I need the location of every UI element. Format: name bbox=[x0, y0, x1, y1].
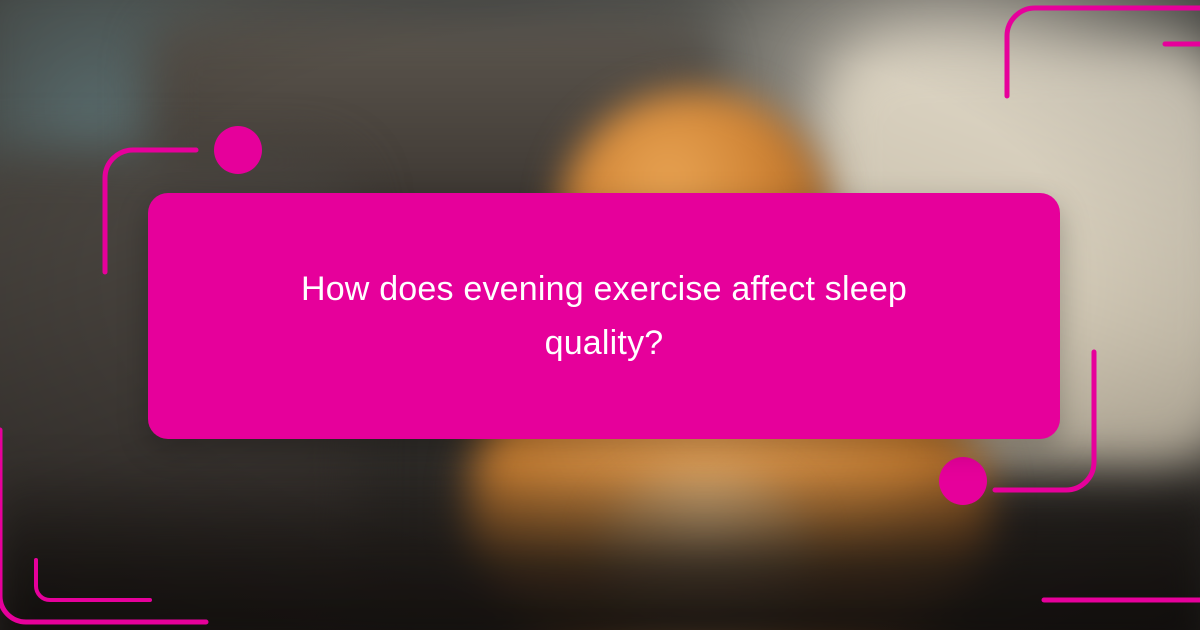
title-card: How does evening exercise affect sleep q… bbox=[148, 193, 1060, 439]
page-title: How does evening exercise affect sleep q… bbox=[254, 262, 954, 371]
share-card-canvas: How does evening exercise affect sleep q… bbox=[0, 0, 1200, 630]
